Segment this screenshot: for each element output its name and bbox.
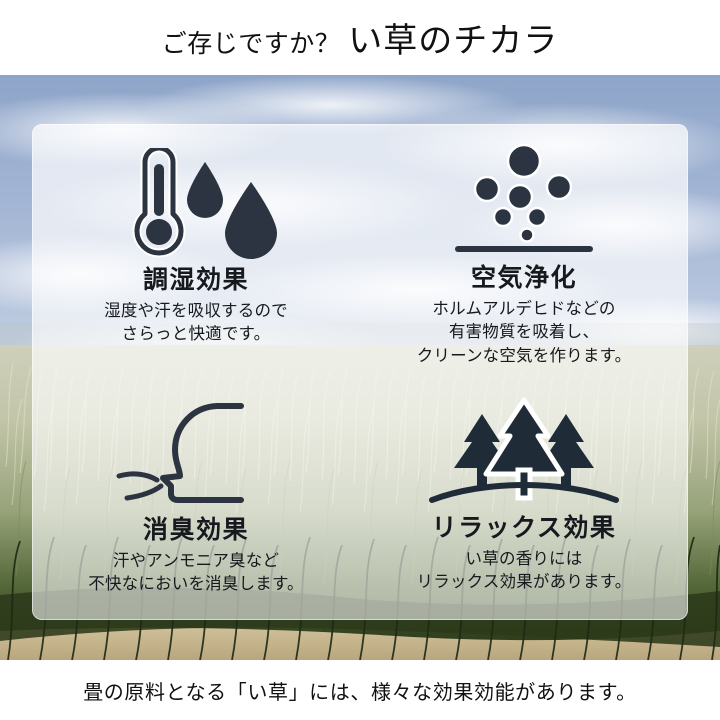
title-lead-text: ご存じですか？ — [162, 24, 341, 60]
footer-bar: 畳の原料となる「い草」には、様々な効果効能があります。 — [0, 660, 720, 720]
pine-trees-icon — [424, 390, 624, 508]
desc-line: い草の香りには — [417, 548, 632, 571]
feature-description: 湿度や汗を吸収するので さらっと快適です。 — [104, 300, 288, 347]
feature-title: 空気浄化 — [471, 264, 577, 293]
page-title: ご存じですか？ い草のチカラ — [162, 13, 559, 62]
desc-line: ホルムアルデヒドなどの — [417, 298, 632, 321]
infographic-page: ご存じですか？ い草のチカラ — [0, 0, 720, 720]
feature-description: い草の香りには リラックス効果があります。 — [417, 548, 632, 595]
face-profile-icon — [101, 392, 291, 510]
feature-card-relax: リラックス効果 い草の香りには リラックス効果があります。 — [360, 372, 688, 620]
feature-card-air: 空気浄化 ホルムアルデヒドなどの 有害物質を吸着し、 クリーンな空気を作ります。 — [360, 124, 688, 372]
desc-line: 汗やアンモニア臭など — [88, 550, 303, 573]
feature-description: 汗やアンモニア臭など 不快なにおいを消臭します。 — [88, 550, 303, 597]
desc-line: 不快なにおいを消臭します。 — [88, 573, 303, 596]
air-particles-icon — [429, 138, 619, 258]
feature-card-humidity: 調湿効果 湿度や汗を吸収するので さらっと快適です。 — [32, 124, 360, 372]
header-title-bar: ご存じですか？ い草のチカラ — [0, 0, 720, 75]
desc-line: さらっと快適です。 — [104, 323, 288, 346]
feature-title: 消臭効果 — [143, 516, 249, 545]
desc-line: 湿度や汗を吸収するので — [104, 300, 288, 323]
desc-line: リラックス効果があります。 — [417, 571, 632, 594]
feature-grid: 調湿効果 湿度や汗を吸収するので さらっと快適です。 — [32, 124, 688, 620]
desc-line: クリーンな空気を作ります。 — [417, 345, 632, 368]
feature-title: 調湿効果 — [143, 266, 249, 295]
thermometer-droplets-icon — [101, 142, 291, 260]
feature-card-deodorize: 消臭効果 汗やアンモニア臭など 不快なにおいを消臭します。 — [32, 372, 360, 620]
feature-title: リラックス効果 — [432, 514, 617, 543]
footer-caption: 畳の原料となる「い草」には、様々な効果効能があります。 — [83, 676, 637, 705]
feature-description: ホルムアルデヒドなどの 有害物質を吸着し、 クリーンな空気を作ります。 — [417, 298, 632, 368]
title-main-text: い草のチカラ — [348, 13, 558, 62]
desc-line: 有害物質を吸着し、 — [417, 321, 632, 344]
